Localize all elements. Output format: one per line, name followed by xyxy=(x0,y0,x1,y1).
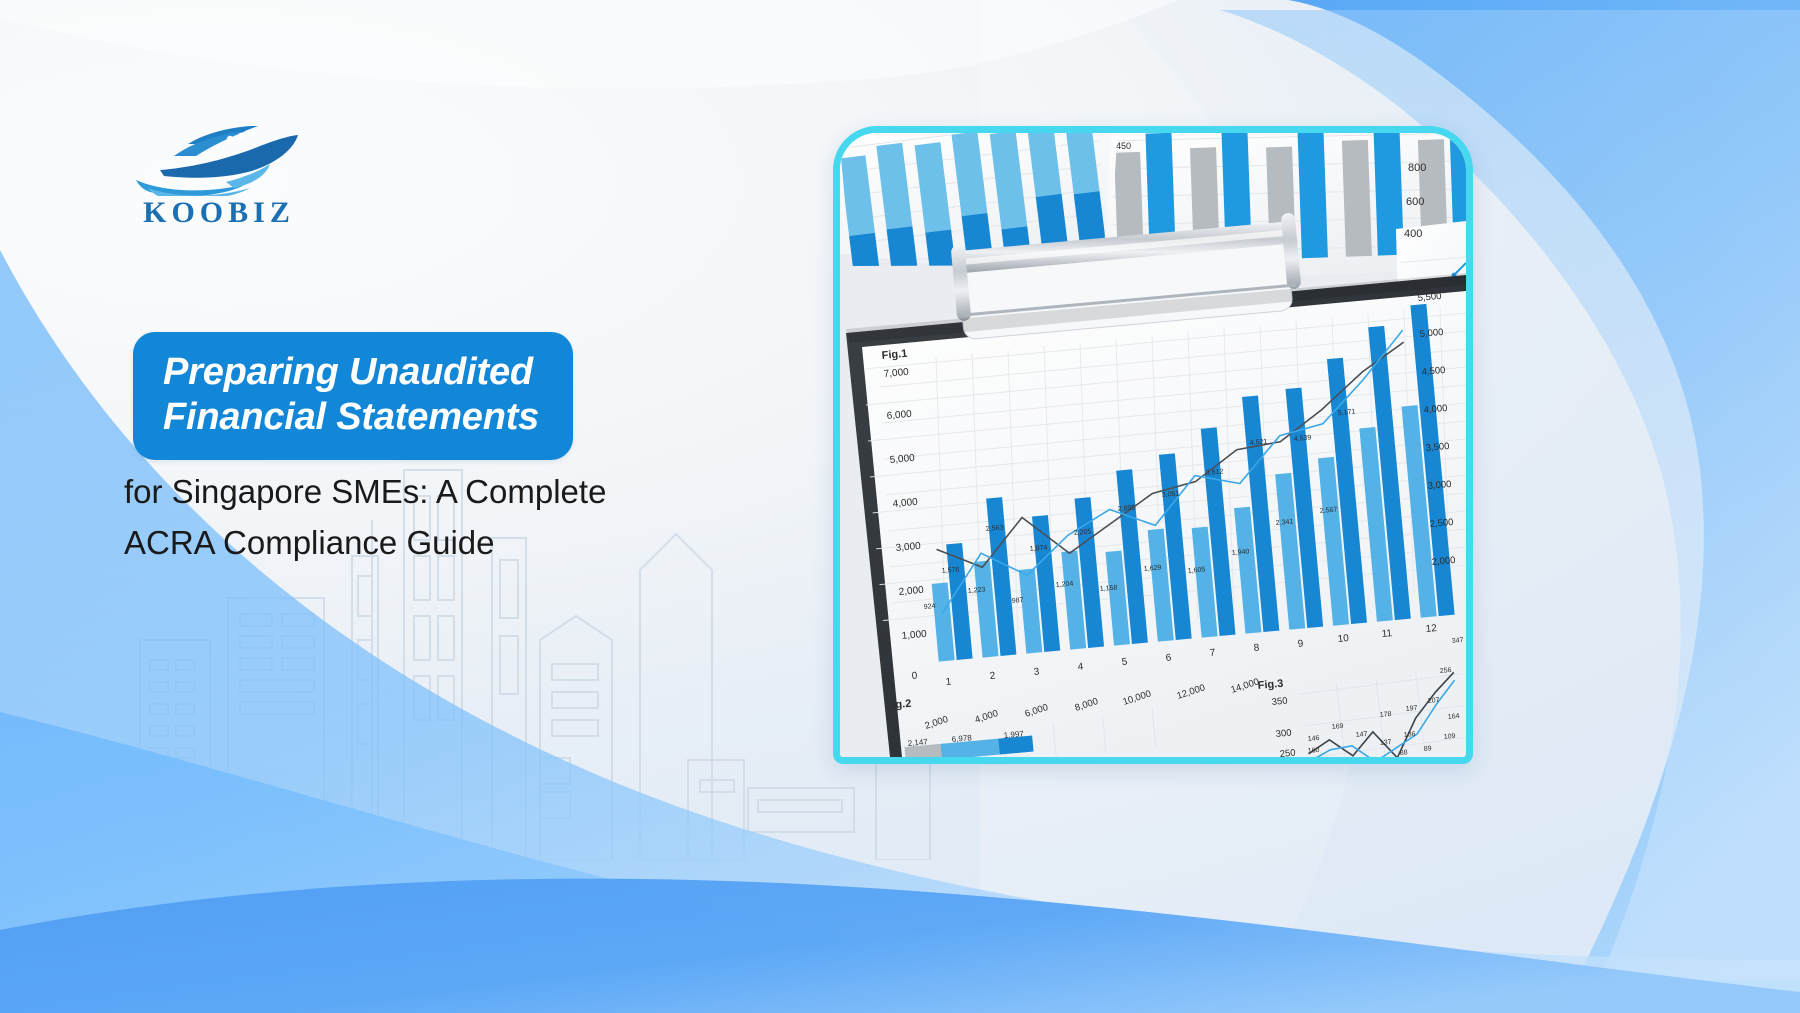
svg-text:88: 88 xyxy=(1400,749,1408,757)
hero-banner: KOOBIZ Preparing Unaudited Financial Sta… xyxy=(0,0,1800,1013)
svg-text:350: 350 xyxy=(1271,696,1288,708)
svg-text:3,000: 3,000 xyxy=(1427,479,1452,492)
svg-text:89: 89 xyxy=(1424,745,1432,753)
subtitle: for Singapore SMEs: A Complete ACRA Comp… xyxy=(124,466,884,568)
svg-text:450: 450 xyxy=(1116,141,1131,151)
svg-text:4,500: 4,500 xyxy=(1421,365,1446,378)
subtitle-line-2: ACRA Compliance Guide xyxy=(124,517,884,568)
svg-text:250: 250 xyxy=(1279,748,1296,757)
svg-text:178: 178 xyxy=(1380,711,1392,719)
svg-text:4,000: 4,000 xyxy=(892,497,918,510)
svg-text:600: 600 xyxy=(1406,196,1424,208)
svg-text:3,500: 3,500 xyxy=(1425,441,1450,454)
ship-wave-icon xyxy=(130,116,315,196)
svg-text:10: 10 xyxy=(1337,633,1350,645)
svg-text:7,000: 7,000 xyxy=(883,367,909,380)
svg-text:2,000: 2,000 xyxy=(898,585,924,598)
svg-text:164: 164 xyxy=(1448,713,1460,721)
svg-text:987: 987 xyxy=(1012,597,1024,605)
background-wave-dark xyxy=(0,879,1800,1013)
brand-logo[interactable]: KOOBIZ xyxy=(124,116,354,241)
svg-text:1,000: 1,000 xyxy=(901,629,927,642)
svg-text:160: 160 xyxy=(1308,747,1320,755)
svg-text:2,500: 2,500 xyxy=(1429,517,1454,530)
svg-text:Fig.3: Fig.3 xyxy=(1257,678,1284,692)
svg-text:109: 109 xyxy=(1444,733,1456,741)
headline-line-2: Financial Statements xyxy=(163,395,539,440)
svg-text:6,000: 6,000 xyxy=(886,409,912,422)
svg-text:147: 147 xyxy=(1356,731,1368,739)
subtitle-line-1: for Singapore SMEs: A Complete xyxy=(124,466,884,517)
svg-text:256: 256 xyxy=(1440,667,1452,675)
svg-text:12: 12 xyxy=(1425,623,1438,635)
svg-text:347: 347 xyxy=(1452,637,1464,645)
svg-text:924: 924 xyxy=(924,603,936,611)
svg-text:137: 137 xyxy=(1380,739,1392,747)
brand-name: KOOBIZ xyxy=(124,198,314,228)
main-chart-sheet: 924 1,578 1,223 2,563 987 1,974 1,204 2,… xyxy=(862,291,1466,757)
photo-content: 10 11 12 xyxy=(840,133,1466,757)
svg-text:2,000: 2,000 xyxy=(1431,555,1456,568)
fig1-title: Fig.1 xyxy=(881,348,908,362)
svg-text:5,000: 5,000 xyxy=(889,453,915,466)
headline-badge: Preparing Unaudited Financial Statements xyxy=(133,332,573,460)
svg-text:1,997: 1,997 xyxy=(1003,729,1024,740)
svg-text:136: 136 xyxy=(1404,731,1416,739)
svg-text:146: 146 xyxy=(1308,735,1320,743)
svg-text:800: 800 xyxy=(1408,162,1426,174)
svg-text:4,000: 4,000 xyxy=(1423,403,1448,416)
svg-text:169: 169 xyxy=(1332,723,1344,731)
svg-text:11: 11 xyxy=(1381,628,1393,640)
svg-text:207: 207 xyxy=(1428,697,1440,705)
svg-text:5,000: 5,000 xyxy=(1419,327,1444,340)
svg-text:197: 197 xyxy=(1406,705,1418,713)
financial-charts-photo: 10 11 12 xyxy=(833,126,1473,764)
svg-text:300: 300 xyxy=(1275,728,1292,740)
headline-line-1: Preparing Unaudited xyxy=(163,350,539,395)
svg-text:5,500: 5,500 xyxy=(1417,291,1442,304)
svg-text:400: 400 xyxy=(1404,228,1422,240)
svg-text:3,000: 3,000 xyxy=(895,541,921,554)
svg-text:6,978: 6,978 xyxy=(951,733,972,744)
svg-text:2,147: 2,147 xyxy=(907,737,928,748)
